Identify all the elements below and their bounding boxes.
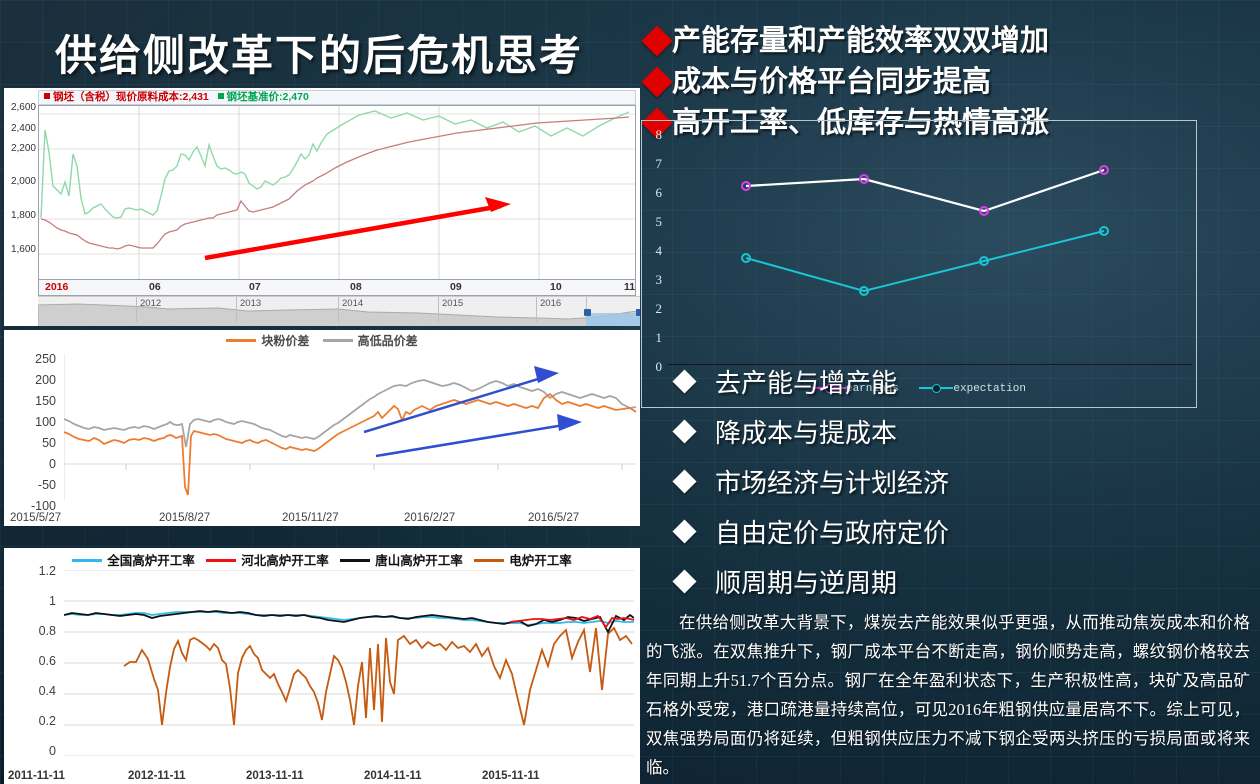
chart4-ytick-7: 7: [644, 156, 662, 172]
chart2-plot-area: [64, 354, 636, 500]
chart4-plot-area: [668, 127, 1190, 363]
navigator-handle-left[interactable]: [584, 309, 591, 316]
chart3-ytick-0p2: 0.2: [4, 714, 56, 728]
chart-blast-furnace-operating-rate: 全国高炉开工率 河北高炉开工率 唐山高炉开工率 电炉开工率 1.2 1 0.8 …: [4, 548, 640, 784]
chart4-ytick-3: 3: [644, 272, 662, 288]
chart2-ytick-0: 0: [4, 457, 56, 471]
chart3-legend: 全国高炉开工率 河北高炉开工率 唐山高炉开工率 电炉开工率: [4, 550, 640, 568]
chart2-ytick-200: 200: [4, 373, 56, 387]
chart4-ytick-6: 6: [644, 185, 662, 201]
chart2-ytick-150: 150: [4, 394, 56, 408]
white-diamond-icon: [672, 569, 696, 593]
chart1-ytick-2600: 2,600: [0, 102, 36, 113]
red-diamond-icon: [641, 25, 672, 56]
white-bullet-label: 去产能与增产能: [715, 363, 897, 400]
chart3-ytick-0p8: 0.8: [4, 624, 56, 638]
red-diamond-icon: [641, 66, 672, 97]
chart1-xtick-08: 08: [350, 281, 362, 293]
white-bullet-item-4: 自由定价与政府定价: [676, 506, 1236, 556]
chart1-xtick-07: 07: [249, 281, 261, 293]
chart2-svg: [64, 354, 636, 500]
white-diamond-icon: [672, 419, 696, 443]
chart3-ytick-1: 1: [4, 594, 56, 608]
chart3-xtick-4: 2014-11-11: [364, 770, 422, 782]
left-panel: 供给侧改革下的后危机思考 钢坯（含税）现价原料成本:2,431 钢坯基准价:2,…: [0, 0, 640, 784]
chart2-legend-item-kuaifen: 块粉价差: [226, 334, 309, 348]
chart4-ytick-4: 4: [644, 243, 662, 259]
chart1-trend-arrow: [205, 197, 511, 258]
chart2-ytick-250: 250: [4, 352, 56, 366]
chart1-nav-tick-2014: 2014: [342, 298, 363, 309]
chart1-nav-tick-2015: 2015: [442, 298, 463, 309]
chart1-ytick-2000: 2,000: [0, 176, 36, 187]
red-bullet-label: 产能存量和产能效率双双增加: [672, 22, 1049, 61]
chart2-legend: 块粉价差 高低品价差: [4, 332, 640, 350]
white-bullet-label: 顺周期与逆周期: [715, 563, 897, 600]
chart1-nav-tick-2013: 2013: [240, 298, 261, 309]
chart1-legend-item-cost: 钢坯（含税）现价原料成本:2,431: [44, 91, 209, 103]
chart1-ytick-1600: 1,600: [0, 244, 36, 255]
white-bullet-label: 自由定价与政府定价: [715, 513, 949, 550]
white-bullet-label: 降成本与提成本: [715, 413, 897, 450]
page-title: 供给侧改革下的后危机思考: [55, 22, 583, 83]
chart1-xtick-09: 09: [450, 281, 462, 293]
chart3-plot-area: [64, 570, 634, 756]
chart2-ytick-neg100: -100: [4, 499, 56, 513]
chart3-ytick-0p4: 0.4: [4, 684, 56, 698]
chart4-ytick-0: 0: [644, 359, 662, 375]
chart4-ytick-8: 8: [644, 127, 662, 143]
chart2-ytick-100: 100: [4, 415, 56, 429]
chart2-legend-item-gaodipin: 高低品价差: [323, 334, 418, 348]
chart2-xtick-2: 2015/8/27: [159, 512, 210, 524]
red-bullet-item-1: 产能存量和产能效率双双增加: [646, 22, 1258, 61]
chart3-ytick-1p2: 1.2: [4, 564, 56, 578]
chart2-xtick-3: 2015/11/27: [282, 512, 339, 524]
white-diamond-icon: [672, 369, 696, 393]
chart1-nav-tick-2012: 2012: [140, 298, 161, 309]
chart2-trend-arrow-upper: [364, 366, 559, 432]
white-bullet-item-3: 市场经济与计划经济: [676, 456, 1236, 506]
white-diamond-icon: [672, 519, 696, 543]
chart1-nav-tick-2016: 2016: [540, 298, 561, 309]
chart1-legend: 钢坯（含税）现价原料成本:2,431 钢坯基准价:2,470: [38, 90, 636, 105]
chart4-ytick-2: 2: [644, 301, 662, 317]
slide-root: 供给侧改革下的后危机思考 钢坯（含税）现价原料成本:2,431 钢坯基准价:2,…: [0, 0, 1260, 784]
chart3-legend-item-eaf: 电炉开工率: [466, 554, 572, 568]
chart1-x-axis: 2016 06 07 08 09 10 11: [38, 280, 636, 296]
chart3-xtick-5: 2015-11-11: [482, 770, 540, 782]
chart1-legend-item-price: 钢坯基准价:2,470: [218, 91, 309, 103]
chart4-svg: [668, 127, 1192, 365]
chart2-xtick-4: 2016/2/27: [404, 512, 455, 524]
chart1-xtick-06: 06: [149, 281, 161, 293]
chart3-ytick-0p6: 0.6: [4, 654, 56, 668]
chart3-ytick-0: 0: [4, 744, 56, 758]
chart-billet-cost-vs-price: 钢坯（含税）现价原料成本:2,431 钢坯基准价:2,470 1,600 1,8…: [4, 88, 640, 326]
white-bullet-item-2: 降成本与提成本: [676, 406, 1236, 456]
red-bullet-item-2: 成本与价格平台同步提高: [646, 63, 1258, 102]
chart2-ytick-neg50: -50: [4, 478, 56, 492]
red-bullet-label: 成本与价格平台同步提高: [672, 63, 991, 102]
chart2-trend-arrow-lower: [376, 414, 582, 456]
chart1-xtick-2016: 2016: [45, 281, 68, 293]
chart2-ytick-50: 50: [4, 436, 56, 450]
chart3-xtick-1: 2011-11-11: [8, 770, 65, 782]
chart1-ytick-2400: 2,400: [0, 123, 36, 134]
chart2-xtick-5: 2016/5/27: [528, 512, 579, 524]
chart1-ytick-1800: 1,800: [0, 210, 36, 221]
chart3-legend-item-national: 全国高炉开工率: [72, 554, 195, 568]
chart1-xtick-11: 11: [624, 281, 635, 293]
white-diamond-icon: [672, 469, 696, 493]
chart1-ytick-2200: 2,200: [0, 143, 36, 154]
chart3-xtick-2: 2012-11-11: [128, 770, 186, 782]
chart1-range-navigator[interactable]: 2012 2013 2014 2015 2016: [38, 296, 640, 326]
chart-ore-price-spreads: 块粉价差 高低品价差 250 200 150 100 50 0 -50 -100: [4, 330, 640, 526]
chart1-plot-area: [38, 105, 636, 280]
white-bullet-item-1: 去产能与增产能: [676, 356, 1236, 406]
body-paragraph: 在供给侧改革大背景下，煤炭去产能效果似乎更强，从而推动焦炭成本和价格的飞涨。在双…: [646, 608, 1250, 782]
chart3-svg: [64, 570, 634, 756]
chart4-ytick-5: 5: [644, 214, 662, 230]
chart3-legend-item-tangshan: 唐山高炉开工率: [332, 554, 463, 568]
chart1-svg: [39, 106, 636, 280]
chart3-legend-item-hebei: 河北高炉开工率: [198, 554, 329, 568]
chart3-xtick-3: 2013-11-11: [246, 770, 304, 782]
chart2-xtick-1: 2015/5/27: [10, 512, 61, 524]
chart4-ytick-1: 1: [644, 330, 662, 346]
white-bullet-label: 市场经济与计划经济: [715, 463, 949, 500]
chart1-xtick-10: 10: [550, 281, 562, 293]
white-bullet-list: 去产能与增产能 降成本与提成本 市场经济与计划经济 自由定价与政府定价 顺周期与…: [676, 356, 1236, 606]
white-bullet-item-5: 顺周期与逆周期: [676, 556, 1236, 606]
